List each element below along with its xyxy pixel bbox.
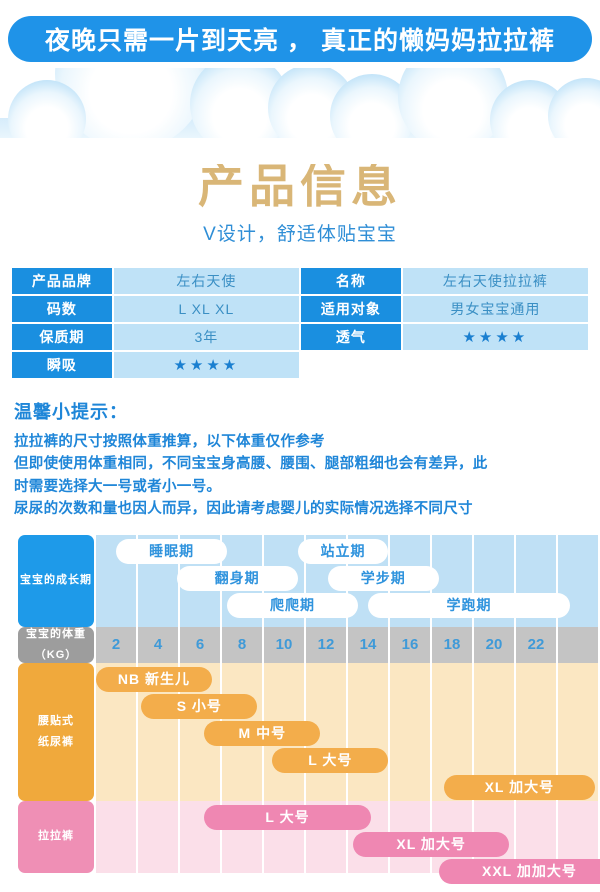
chart-grid-cell — [558, 627, 600, 663]
star-rating-icon: ★★★★ — [462, 329, 528, 346]
chart-row: 腰贴式纸尿裤NB 新生儿S 小号M 中号L 大号XL 加大号 — [0, 663, 600, 801]
chart-row-label: 拉拉裤 — [18, 801, 94, 873]
chart-grid-cell: 20 — [474, 627, 516, 663]
chart-bar: 睡眠期 — [116, 539, 227, 564]
header-banner-text: 夜晚只需一片到天亮 ， 真正的懒妈妈拉拉裤 — [45, 21, 555, 57]
chart-row-label-line: 拉拉裤 — [38, 826, 74, 847]
chart-row: 拉拉裤L 大号XL 加大号XXL 加加大号 — [0, 801, 600, 873]
chart-bar: L 大号 — [272, 748, 388, 773]
size-chart: 宝宝的成长期睡眠期站立期翻身期学步期爬爬期学跑期宝宝的体重（KG）2468101… — [0, 535, 600, 873]
chart-grid-cell — [138, 801, 180, 873]
chart-row-label-line: 腰贴式 — [38, 711, 74, 732]
chart-bar: XL 加大号 — [353, 832, 509, 857]
chart-row: 宝宝的体重（KG）246810121416182022 — [0, 627, 600, 663]
table-cell-value: L XL XL — [114, 296, 299, 322]
tips-body: 拉拉裤的尺寸按照体重推算，以下体重仅作参考但即使使用体重相同，不同宝宝身高腰、腰… — [14, 431, 586, 521]
chart-bar-label: L 大号 — [308, 750, 352, 770]
table-cell-label: 适用对象 — [301, 296, 401, 322]
chart-bar-label: 学跑期 — [446, 595, 491, 615]
chart-grid-cell: 10 — [264, 627, 306, 663]
chart-bar-label: XL 加大号 — [485, 777, 555, 797]
chart-grid-cell: 16 — [390, 627, 432, 663]
chart-grid-cell: 4 — [138, 627, 180, 663]
page-title: 产品信息 — [0, 160, 600, 213]
chart-bar: 站立期 — [298, 539, 389, 564]
table-cell-value: 男女宝宝通用 — [403, 296, 588, 322]
table-cell-label: 瞬吸 — [12, 352, 112, 378]
table-row: 产品品牌左右天使名称左右天使拉拉裤 — [12, 268, 588, 294]
chart-grid: 246810121416182022 — [96, 627, 600, 663]
chart-bar: 翻身期 — [177, 566, 298, 591]
table-cell-label: 名称 — [301, 268, 401, 294]
tips-line: 拉拉裤的尺寸按照体重推算，以下体重仅作参考 — [14, 431, 586, 453]
chart-bar-label: 学步期 — [361, 568, 406, 588]
cloud-decoration — [0, 68, 600, 164]
chart-lane: 246810121416182022 — [96, 627, 600, 663]
header-banner: 夜晚只需一片到天亮 ， 真正的懒妈妈拉拉裤 — [8, 16, 592, 62]
chart-row-label: 宝宝的成长期 — [18, 535, 94, 627]
chart-bar: 爬爬期 — [227, 593, 358, 618]
chart-bar: 学跑期 — [368, 593, 570, 618]
chart-bar: XL 加大号 — [444, 775, 595, 800]
table-cell-empty — [403, 352, 588, 378]
tips-section: 温馨小提示： 拉拉裤的尺寸按照体重推算，以下体重仅作参考但即使使用体重相同，不同… — [14, 398, 586, 521]
chart-grid-cell: 8 — [222, 627, 264, 663]
chart-grid-cell: 14 — [348, 627, 390, 663]
chart-row-label: 腰贴式纸尿裤 — [18, 663, 94, 801]
chart-grid-cell: 22 — [516, 627, 558, 663]
table-row: 保质期3年透气★★★★ — [12, 324, 588, 350]
chart-grid-cell: 18 — [432, 627, 474, 663]
chart-bar: L 大号 — [204, 805, 370, 830]
table-row: 瞬吸★★★★ — [12, 352, 588, 378]
product-info-table: 产品品牌左右天使名称左右天使拉拉裤码数L XL XL适用对象男女宝宝通用保质期3… — [10, 266, 590, 380]
tips-title: 温馨小提示： — [14, 398, 586, 424]
table-cell-label: 码数 — [12, 296, 112, 322]
chart-grid-cell — [96, 801, 138, 873]
chart-grid-cell — [348, 663, 390, 801]
chart-row-label-line: 宝宝的体重 — [26, 624, 86, 645]
chart-lane: 睡眠期站立期翻身期学步期爬爬期学跑期 — [96, 535, 600, 627]
tips-line: 时需要选择大一号或者小一号。 — [14, 476, 586, 498]
table-row: 码数L XL XL适用对象男女宝宝通用 — [12, 296, 588, 322]
cloud-white-base — [0, 138, 600, 164]
table-cell-label: 透气 — [301, 324, 401, 350]
chart-row-label: 宝宝的体重（KG） — [18, 627, 94, 663]
chart-bar: M 中号 — [204, 721, 320, 746]
chart-bar-label: 翻身期 — [215, 568, 260, 588]
chart-grid-cell — [390, 663, 432, 801]
table-cell-value: ★★★★ — [114, 352, 299, 378]
tips-line: 但即使使用体重相同，不同宝宝身高腰、腰围、腿部粗细也会有差异，此 — [14, 453, 586, 475]
chart-bar-label: M 中号 — [239, 723, 287, 743]
table-cell-value: 左右天使 — [114, 268, 299, 294]
title-section: 产品信息 V设计，舒适体贴宝宝 — [0, 160, 600, 246]
header-section: 夜晚只需一片到天亮 ， 真正的懒妈妈拉拉裤 — [0, 0, 600, 62]
chart-bar-label: S 小号 — [177, 696, 222, 716]
chart-row: 宝宝的成长期睡眠期站立期翻身期学步期爬爬期学跑期 — [0, 535, 600, 627]
chart-bar-label: 站立期 — [320, 541, 365, 561]
chart-bar: XXL 加加大号 — [439, 859, 600, 884]
tips-line: 尿尿的次数和量也因人而异，因此请考虑婴儿的实际情况选择不同尺寸 — [14, 498, 586, 520]
chart-row-label-line: 纸尿裤 — [38, 732, 74, 753]
product-info-table-body: 产品品牌左右天使名称左右天使拉拉裤码数L XL XL适用对象男女宝宝通用保质期3… — [12, 268, 588, 378]
star-rating-icon: ★★★★ — [173, 357, 239, 374]
table-cell-value: 3年 — [114, 324, 299, 350]
table-cell-label: 保质期 — [12, 324, 112, 350]
chart-grid-cell: 2 — [96, 627, 138, 663]
chart-bar: S 小号 — [141, 694, 257, 719]
chart-row-label-line: 宝宝的成长期 — [20, 570, 92, 591]
table-cell-value: ★★★★ — [403, 324, 588, 350]
table-cell-value: 左右天使拉拉裤 — [403, 268, 588, 294]
chart-lane: NB 新生儿S 小号M 中号L 大号XL 加大号 — [96, 663, 600, 801]
chart-bar: 学步期 — [328, 566, 439, 591]
chart-bar-label: 睡眠期 — [149, 541, 194, 561]
chart-grid-cell: 6 — [180, 627, 222, 663]
chart-bar-label: NB 新生儿 — [118, 669, 190, 689]
chart-bar-label: XXL 加加大号 — [482, 861, 577, 881]
table-cell-empty — [301, 352, 401, 378]
chart-grid-cell: 12 — [306, 627, 348, 663]
chart-lane: L 大号XL 加大号XXL 加加大号 — [96, 801, 600, 873]
chart-bar-label: L 大号 — [265, 807, 309, 827]
chart-bar: NB 新生儿 — [96, 667, 212, 692]
page-subtitle: V设计，舒适体贴宝宝 — [0, 219, 600, 246]
chart-bar-label: 爬爬期 — [270, 595, 315, 615]
table-cell-label: 产品品牌 — [12, 268, 112, 294]
chart-bar-label: XL 加大号 — [396, 834, 466, 854]
